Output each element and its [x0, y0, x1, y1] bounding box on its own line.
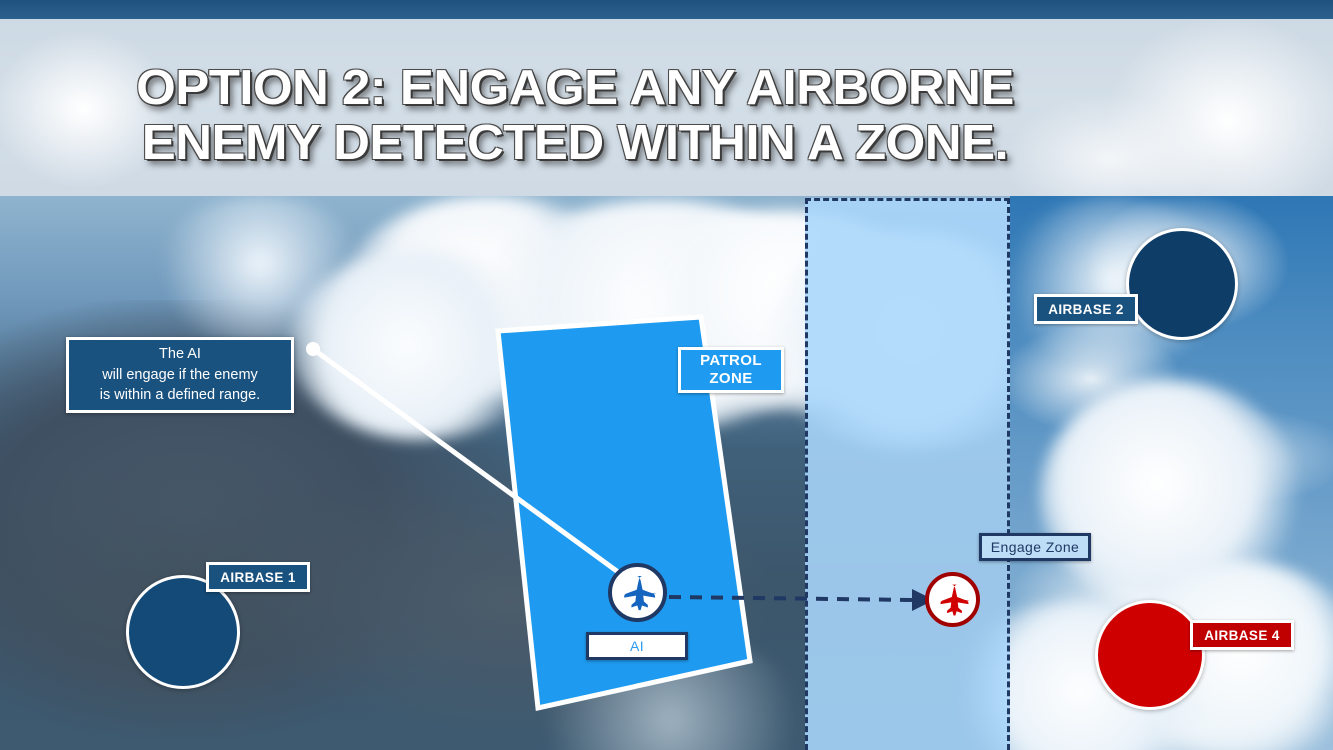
airbase-4-circle-icon[interactable]: [1095, 600, 1205, 710]
callout-line-2: will engage if the enemy: [100, 365, 260, 386]
presentation-slide: OPTION 2: ENGAGE ANY AIRBORNE ENEMY DETE…: [0, 0, 1333, 750]
page-title-line-2: ENEMY DETECTED WITHIN A ZONE.: [0, 116, 1173, 171]
callout-line-3: is within a defined range.: [100, 385, 260, 406]
airbase-2-circle-icon[interactable]: [1126, 228, 1238, 340]
sky-top-band: [0, 0, 1333, 19]
patrol-zone-label[interactable]: PATROL ZONE: [678, 347, 784, 393]
ai-fighter-jet-icon[interactable]: [608, 563, 667, 622]
airbase-2-label[interactable]: AIRBASE 2: [1034, 294, 1138, 324]
title-banner: OPTION 2: ENGAGE ANY AIRBORNE ENEMY DETE…: [0, 19, 1333, 196]
patrol-zone-label-line-1: PATROL: [700, 352, 762, 370]
enemy-fighter-jet-icon[interactable]: [925, 572, 980, 627]
page-title: OPTION 2: ENGAGE ANY AIRBORNE ENEMY DETE…: [0, 61, 1173, 171]
airbase-1-label[interactable]: AIRBASE 1: [206, 562, 310, 592]
page-title-line-1: OPTION 2: ENGAGE ANY AIRBORNE: [0, 61, 1173, 116]
callout-line-1: The AI: [100, 344, 260, 365]
airbase-4-label[interactable]: AIRBASE 4: [1190, 620, 1294, 650]
patrol-zone-label-line-2: ZONE: [709, 370, 752, 388]
ai-label[interactable]: AI: [586, 632, 688, 660]
airbase-1-circle-icon[interactable]: [126, 575, 240, 689]
callout-box: The AI will engage if the enemy is withi…: [66, 337, 294, 413]
engage-zone-label[interactable]: Engage Zone: [979, 533, 1091, 561]
engage-zone-rectangle[interactable]: [805, 198, 1010, 750]
